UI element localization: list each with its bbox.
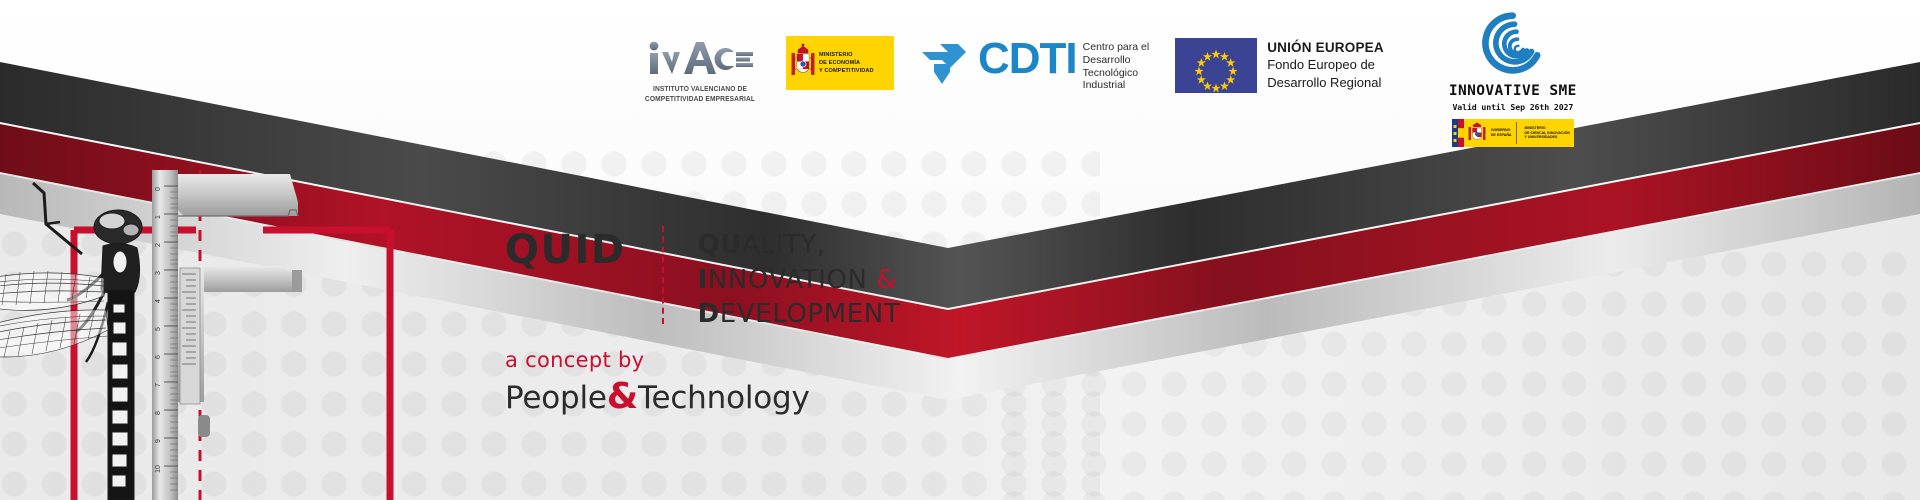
ministerio-line3: Y COMPETITIVIDAD: [819, 67, 874, 75]
cdti-logo: CDTI Centro para el Desarrollo Tecnológi…: [920, 36, 1149, 92]
eu-flag-icon: [1175, 38, 1257, 93]
ivace-logo: INSTITUTO VALENCIANO DE COMPETITIVIDAD E…: [640, 36, 760, 103]
brand-banner: 0 1 2 3 4 5 6 7 8 9 10 QUID QUALITY, INN…: [0, 0, 1920, 500]
tagline-bold-2: D: [698, 299, 720, 329]
eu-text: UNIÓN EUROPEA Fondo Europeo de Desarroll…: [1267, 38, 1384, 92]
tagline-rest-2: EVELOPMENT: [720, 299, 901, 329]
tagline-bold-1: I: [698, 265, 708, 295]
spain-coat-of-arms-small-icon: [1467, 122, 1487, 144]
ministerio-line1: MINISTERIO: [819, 51, 874, 59]
svg-text:5: 5: [155, 327, 162, 331]
cdti-sub-line4: Industrial: [1083, 79, 1150, 92]
cdti-sub-line2: Desarrollo: [1083, 54, 1150, 67]
tagline-rest-1: NNOVATION: [708, 265, 877, 295]
ministerio-text: MINISTERIO DE ECONOMÍA Y COMPETITIVIDAD: [819, 51, 874, 75]
ivace-mark-icon: [646, 40, 754, 74]
funding-logo-strip: INSTITUTO VALENCIANO DE COMPETITIVIDAD E…: [640, 36, 1588, 147]
tagline-rest-0: ALITY,: [742, 230, 826, 260]
cdti-wordmark: CDTI: [978, 38, 1077, 80]
spiral-logo-icon: [1475, 10, 1550, 76]
gobierno-line2: DE ESPAÑA: [1491, 133, 1512, 138]
svg-text:0: 0: [155, 187, 162, 191]
tagline-line-development: DEVELOPMENT: [698, 297, 901, 332]
svg-text:9: 9: [155, 439, 162, 443]
company-part1: People: [505, 380, 607, 416]
cdti-subtitle: Centro para el Desarrollo Tecnológico In…: [1083, 38, 1150, 92]
european-union-logo: UNIÓN EUROPEA Fondo Europeo de Desarroll…: [1175, 36, 1384, 93]
eu-sub-line1: Fondo Europeo de: [1267, 57, 1384, 73]
gobierno-divider: [1516, 122, 1517, 144]
quid-dashed-divider: [662, 226, 664, 324]
ministerio-economia-logo: MINISTERIO DE ECONOMÍA Y COMPETITIVIDAD: [786, 36, 894, 90]
gobierno-de-espana-badge: GOBIERNO DE ESPAÑA MINISTERIO DE CIENCIA…: [1452, 119, 1574, 147]
concept-by-block: a concept by People&Technology: [505, 348, 810, 417]
concept-by-label: a concept by: [505, 348, 810, 372]
cdti-sub-line1: Centro para el: [1083, 41, 1150, 54]
quid-wordmark: QUID: [505, 228, 626, 270]
eu-title: UNIÓN EUROPEA: [1267, 40, 1384, 55]
cdti-sub-line3: Tecnológico: [1083, 67, 1150, 80]
ivace-subtitle-line2: COMPETITIVIDAD EMPRESARIAL: [645, 94, 755, 104]
company-part2: Technology: [638, 380, 810, 416]
svg-text:6: 6: [155, 355, 162, 359]
people-technology-wordmark: People&Technology: [505, 376, 810, 417]
svg-text:3: 3: [155, 271, 162, 275]
svg-text:4: 4: [155, 299, 162, 303]
dragonfly-caliper-illustration: 0 1 2 3 4 5 6 7 8 9 10: [0, 170, 470, 500]
svg-text:7: 7: [155, 383, 162, 387]
innovative-sme-validity: Valid until Sep 26th 2027: [1438, 102, 1588, 112]
cdti-arrow-check-icon: [920, 38, 972, 88]
dragonfly-wings: [0, 271, 108, 357]
svg-text:1: 1: [155, 215, 162, 219]
tagline-line-innovation: INNOVATION &: [698, 263, 901, 298]
company-ampersand: &: [607, 376, 638, 417]
tagline-line-quality: QUALITY,: [698, 228, 901, 263]
quid-brand-block: QUID QUALITY, INNOVATION & DEVELOPMENT: [505, 228, 900, 332]
spain-flag-icon: [1452, 119, 1464, 147]
tagline-ampersand: &: [876, 265, 897, 295]
innovative-sme-badge: INNOVATIVE SME Valid until Sep 26th 2027: [1438, 10, 1588, 147]
vernier-caliper: 0 1 2 3 4 5 6 7 8 9 10: [152, 170, 302, 500]
gobierno-label: GOBIERNO DE ESPAÑA: [1491, 128, 1512, 137]
ivace-subtitle-line1: INSTITUTO VALENCIANO DE: [645, 84, 755, 94]
ivace-subtitle: INSTITUTO VALENCIANO DE COMPETITIVIDAD E…: [645, 84, 755, 103]
tagline-bold-0: QU: [698, 230, 742, 260]
svg-text:8: 8: [155, 411, 162, 415]
spain-coat-of-arms-icon: [790, 43, 816, 83]
svg-text:10: 10: [155, 465, 162, 473]
ministerio-ciencia-label: MINISTERIO DE CIENCIA, INNOVACIÓN Y UNIV…: [1525, 126, 1570, 140]
quid-tagline: QUALITY, INNOVATION & DEVELOPMENT: [698, 228, 901, 332]
ministerio-ciencia-line3: Y UNIVERSIDADES: [1525, 135, 1570, 140]
svg-text:2: 2: [155, 243, 162, 247]
eu-sub-line2: Desarrollo Regional: [1267, 75, 1384, 91]
innovative-sme-title: INNOVATIVE SME: [1438, 83, 1588, 99]
ministerio-line2: DE ECONOMÍA: [819, 59, 874, 67]
